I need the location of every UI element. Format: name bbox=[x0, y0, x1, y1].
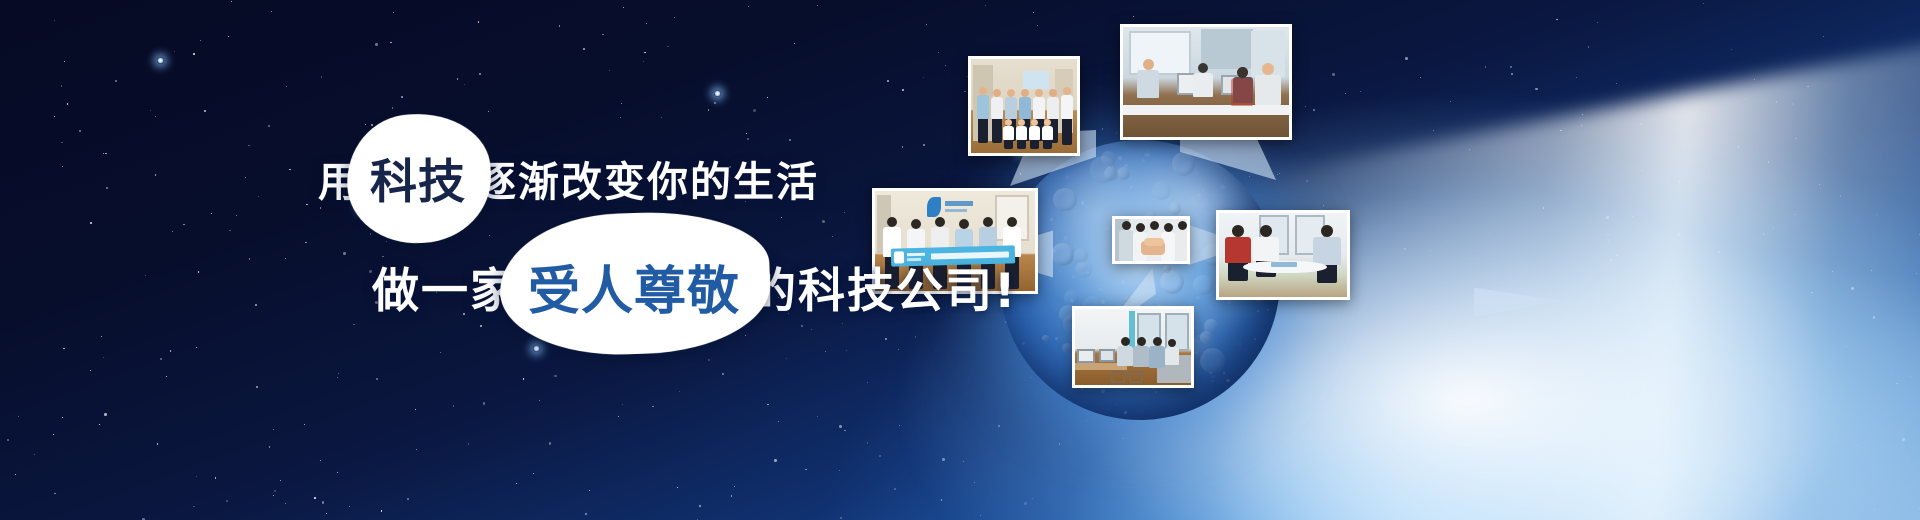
moon-speck bbox=[1141, 411, 1142, 412]
moon-speck bbox=[1133, 301, 1135, 303]
moon-speck bbox=[1075, 246, 1077, 248]
moon-speck bbox=[1210, 194, 1211, 195]
moon-speck bbox=[1099, 288, 1102, 291]
photo-workstations[interactable] bbox=[1120, 24, 1292, 140]
moon-speck bbox=[1105, 226, 1109, 230]
moon-speck bbox=[1148, 398, 1150, 400]
moon-speck bbox=[1050, 218, 1053, 221]
moon-speck bbox=[1232, 198, 1234, 200]
moon-speck bbox=[1060, 271, 1061, 272]
moon-speck bbox=[1022, 342, 1026, 346]
moon-speck bbox=[1227, 300, 1231, 304]
moon-crater bbox=[1124, 296, 1131, 303]
moon-speck bbox=[1184, 285, 1185, 286]
moon-speck bbox=[1124, 411, 1127, 414]
moon-speck bbox=[1022, 294, 1024, 296]
moon-speck bbox=[1267, 309, 1269, 311]
moon-speck bbox=[1202, 189, 1205, 192]
moon-crater bbox=[1051, 243, 1074, 266]
moon-speck bbox=[1195, 351, 1198, 354]
moon-speck bbox=[1130, 186, 1132, 188]
moon-speck bbox=[1211, 380, 1214, 383]
moon-speck bbox=[1072, 183, 1074, 185]
moon-crater bbox=[1169, 202, 1182, 215]
moon-speck bbox=[1226, 379, 1230, 383]
team-banner-strip bbox=[891, 245, 1015, 266]
moon-speck bbox=[1055, 337, 1059, 341]
moon-speck bbox=[1118, 156, 1122, 160]
moon-speck bbox=[1065, 175, 1069, 179]
moon-speck bbox=[1072, 275, 1075, 278]
moon-crater bbox=[1152, 181, 1171, 200]
hero-banner: 用 科技 逐渐改变你的生活 做一家 受人尊敬 的科技公司! bbox=[0, 0, 1920, 520]
moon-crater bbox=[1064, 290, 1080, 306]
moon-speck bbox=[1211, 375, 1214, 378]
moon-speck bbox=[1155, 391, 1158, 394]
moon-crater bbox=[1042, 335, 1049, 342]
moon-speck bbox=[1223, 372, 1225, 374]
moon-speck bbox=[1207, 247, 1209, 249]
moon-speck bbox=[1101, 300, 1105, 304]
moon-speck bbox=[1196, 291, 1200, 295]
moon-crater bbox=[1053, 188, 1077, 212]
moon-speck bbox=[1202, 204, 1205, 207]
moon-speck bbox=[1142, 159, 1145, 162]
moon-speck bbox=[1064, 236, 1068, 240]
moon-speck bbox=[1108, 166, 1110, 168]
moon-crater bbox=[1194, 246, 1201, 253]
moon-speck bbox=[1169, 399, 1171, 401]
moon-speck bbox=[1145, 153, 1149, 157]
moon-speck bbox=[1205, 211, 1207, 213]
moon-speck bbox=[1196, 296, 1200, 300]
photo-hands-together[interactable] bbox=[1112, 216, 1190, 264]
moon-speck bbox=[1101, 389, 1105, 393]
moon-speck bbox=[1135, 272, 1138, 275]
moon-speck bbox=[1121, 280, 1125, 284]
moon-speck bbox=[1197, 193, 1201, 197]
photo-team-group[interactable] bbox=[968, 56, 1080, 156]
moon-speck bbox=[1081, 201, 1085, 205]
moon-crater bbox=[1073, 248, 1088, 263]
moon-crater bbox=[1104, 167, 1118, 181]
photo-banner-team[interactable] bbox=[872, 188, 1038, 294]
moon-speck bbox=[1209, 372, 1212, 375]
photo-meeting-table[interactable] bbox=[1216, 210, 1350, 300]
moon-crater bbox=[1172, 152, 1196, 176]
moon-crater bbox=[1062, 343, 1072, 353]
company-logo-icon bbox=[927, 197, 941, 217]
moon-speck bbox=[1220, 185, 1224, 189]
moon-speck bbox=[1239, 343, 1241, 345]
moon-speck bbox=[1146, 149, 1150, 153]
moon-speck bbox=[1194, 326, 1198, 330]
moon-speck bbox=[1211, 365, 1212, 366]
moon-speck bbox=[1073, 174, 1075, 176]
moon-speck bbox=[1118, 391, 1119, 392]
moon-speck bbox=[1071, 299, 1074, 302]
photo-computer-classroom[interactable] bbox=[1072, 306, 1194, 388]
moon-crater bbox=[1117, 167, 1130, 180]
moon-speck bbox=[1257, 310, 1259, 312]
moon-speck bbox=[1188, 175, 1190, 177]
moon-speck bbox=[1116, 404, 1117, 405]
moon-speck bbox=[1254, 338, 1256, 340]
moon-speck bbox=[1124, 164, 1128, 168]
moon-speck bbox=[1195, 171, 1198, 174]
moon-crater bbox=[1160, 270, 1185, 295]
